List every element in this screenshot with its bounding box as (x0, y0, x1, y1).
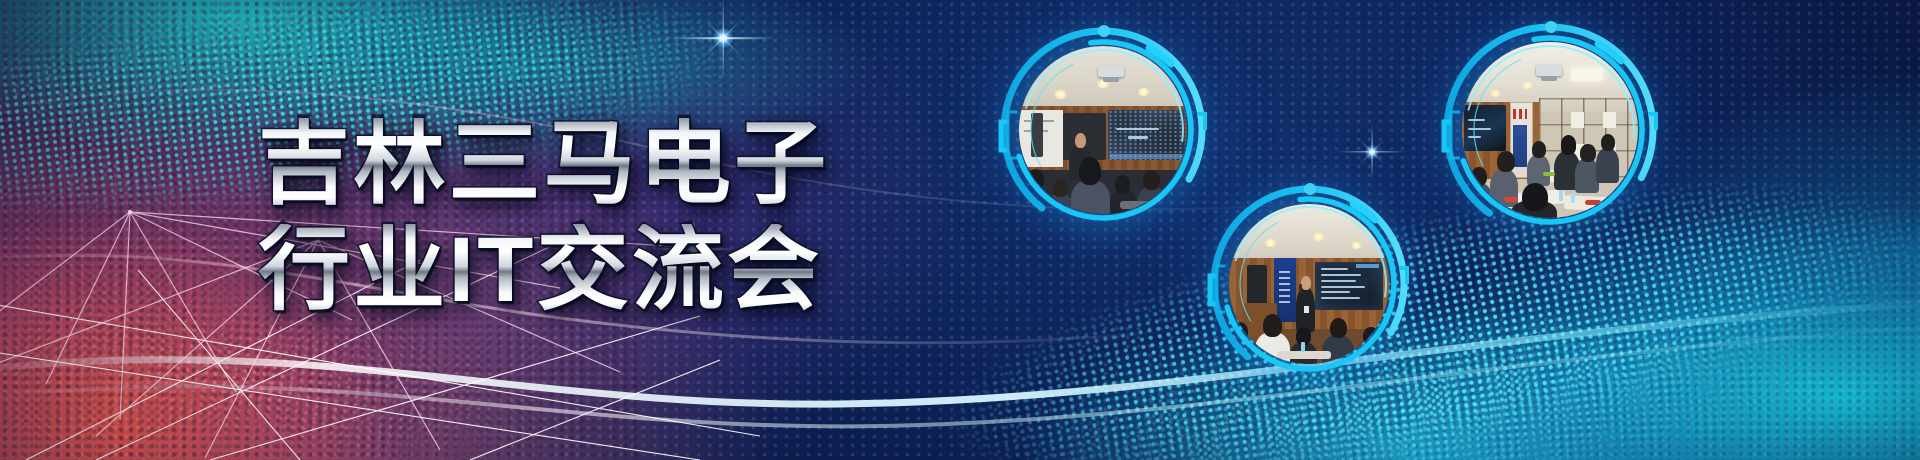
title-line-1-wrap: 吉林三马电子 吉林三马电子 (258, 118, 958, 210)
title-line-2: 行业IT交流会 (258, 224, 958, 316)
banner-root: 吉林三马电子 吉林三马电子 行业IT交流会 行业IT交流会 (0, 0, 1920, 460)
title-line-2-wrap: 行业IT交流会 行业IT交流会 (258, 224, 958, 316)
title-line-1: 吉林三马电子 (258, 118, 958, 210)
